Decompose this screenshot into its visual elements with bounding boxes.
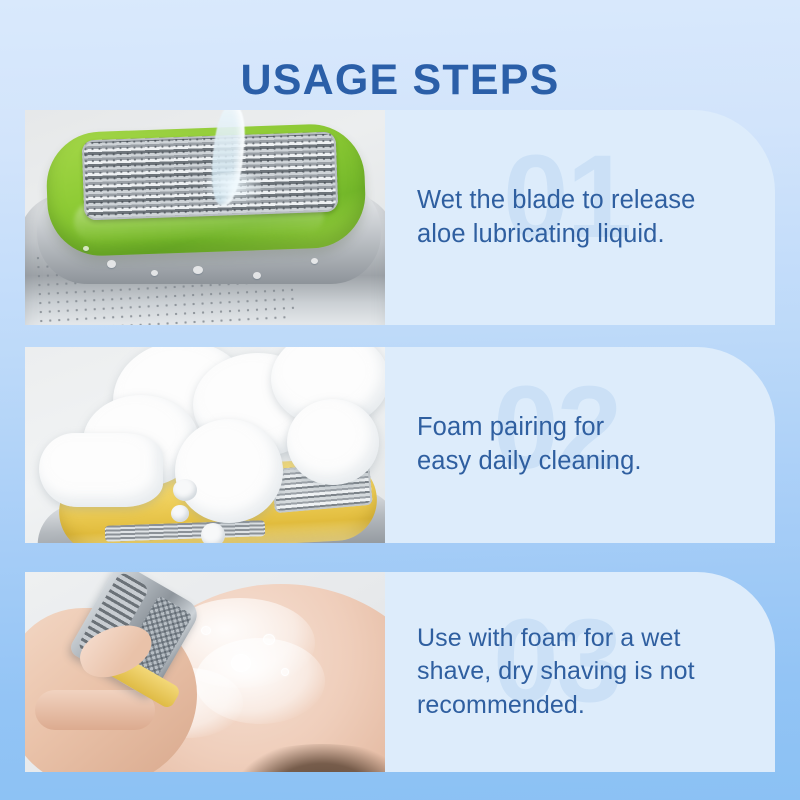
- water-droplet: [107, 260, 116, 268]
- step-text-panel-3: 03 Use with foam for a wet shave, dry sh…: [385, 572, 775, 772]
- water-droplet: [311, 258, 318, 264]
- step-image-1: [25, 110, 385, 325]
- page-title: USAGE STEPS: [240, 59, 559, 102]
- step-row: 01 Wet the blade to release aloe lubrica…: [25, 110, 775, 325]
- step-row: 03 Use with foam for a wet shave, dry sh…: [25, 572, 775, 772]
- water-droplet: [253, 272, 261, 279]
- step-image-2: [25, 347, 385, 543]
- foam-bead: [173, 479, 197, 501]
- foam-bubble: [281, 668, 289, 676]
- step-description: Wet the blade to release aloe lubricatin…: [385, 184, 709, 252]
- water-splash: [201, 172, 265, 206]
- foam-bubble: [201, 626, 211, 635]
- shaving-foam: [287, 399, 379, 485]
- step-row: 02 Foam pairing for easy daily cleaning.: [25, 347, 775, 543]
- step-description: Use with foam for a wet shave, dry shavi…: [385, 622, 709, 722]
- water-droplet: [83, 246, 89, 251]
- step-image-3: [25, 572, 385, 772]
- infographic-page: USAGE STEPS 01 Wet the blade to release …: [0, 0, 800, 800]
- foam-bead: [171, 505, 189, 522]
- shaving-foam: [175, 419, 283, 523]
- step-text-panel-1: 01 Wet the blade to release aloe lubrica…: [385, 110, 775, 325]
- shaving-foam: [39, 433, 163, 507]
- water-droplet: [151, 270, 158, 276]
- finger: [35, 690, 155, 730]
- foam-bubble: [263, 634, 275, 645]
- foam-bead: [201, 523, 225, 543]
- step-text-panel-2: 02 Foam pairing for easy daily cleaning.: [385, 347, 775, 543]
- water-droplet: [193, 266, 203, 274]
- foam-bubble: [231, 654, 251, 672]
- step-description: Foam pairing for easy daily cleaning.: [385, 411, 656, 479]
